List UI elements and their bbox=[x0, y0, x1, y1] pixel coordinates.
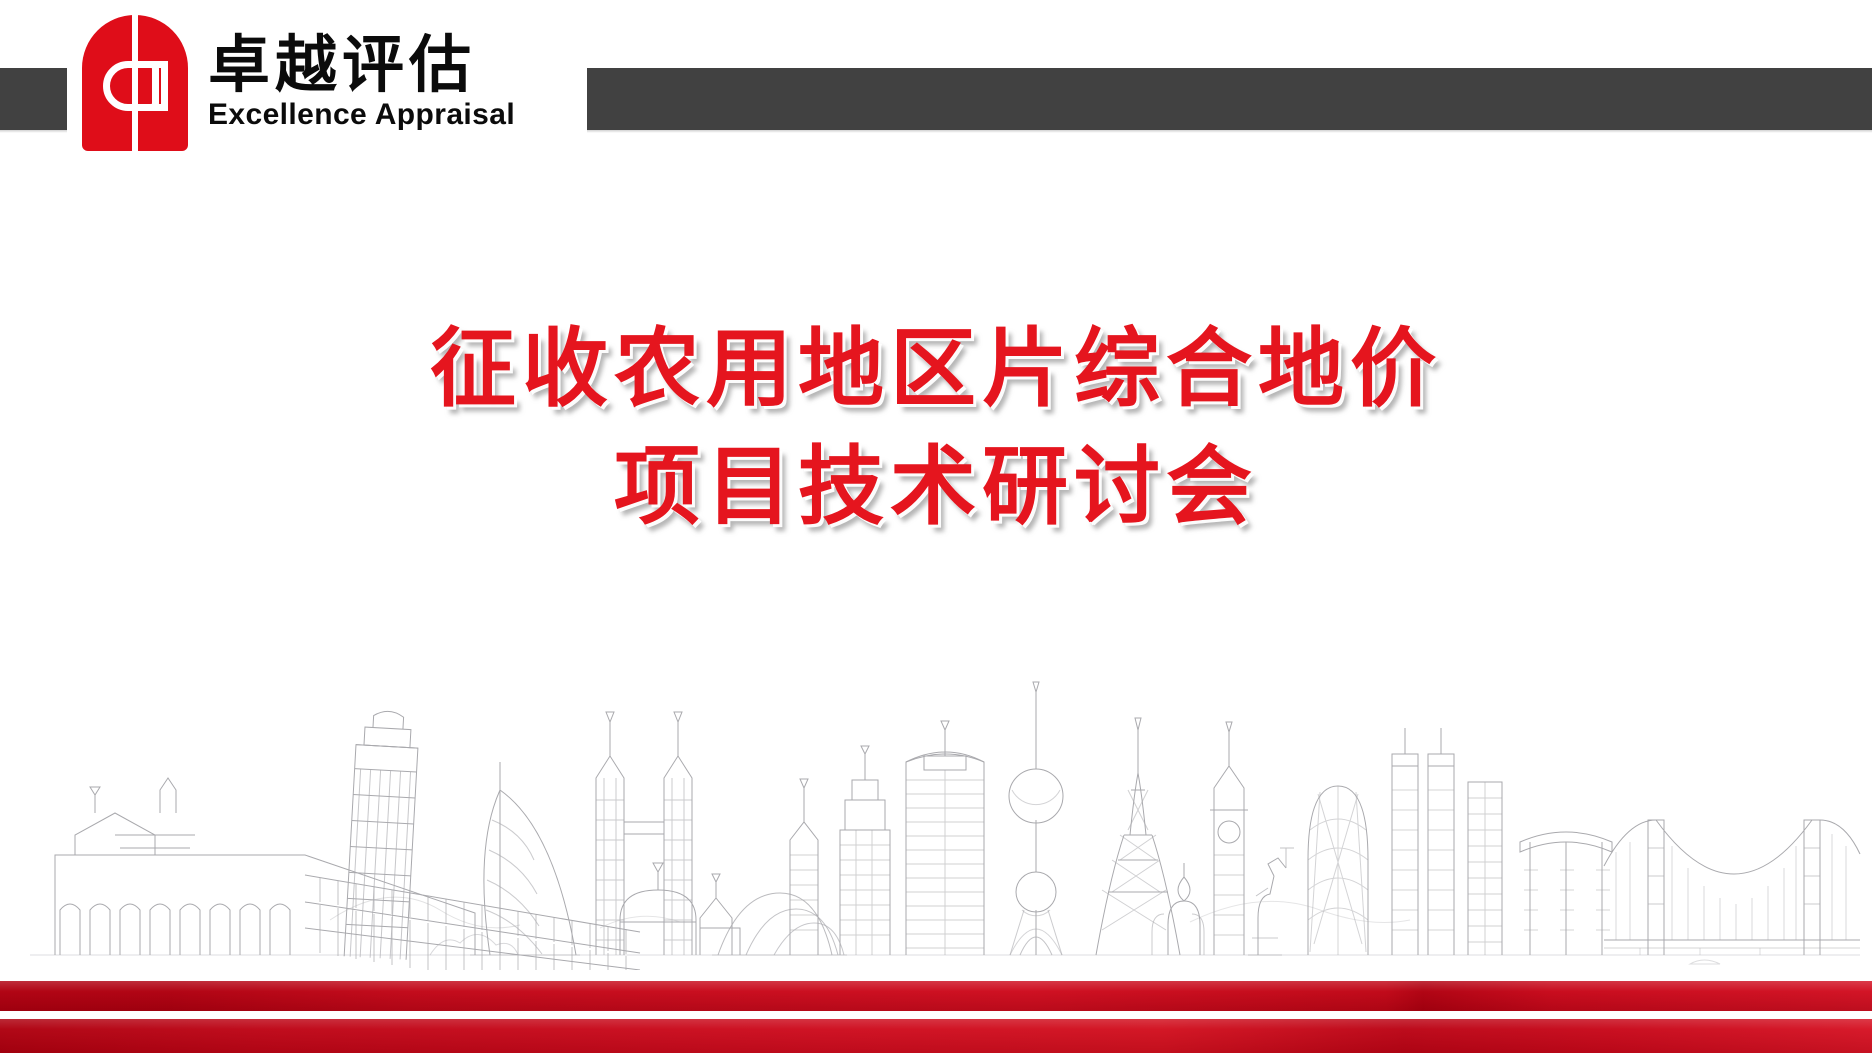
footer-bar-lower bbox=[0, 1019, 1872, 1053]
skyline-illustration bbox=[0, 670, 1872, 970]
logo-english-name: Excellence Appraisal bbox=[208, 98, 515, 133]
company-logo: 卓越评估 Excellence Appraisal bbox=[67, 8, 587, 158]
skyline-svg bbox=[0, 670, 1872, 970]
title-line-1: 征收农用地区片综合地价 bbox=[0, 310, 1872, 428]
footer-bar-upper bbox=[0, 981, 1872, 1011]
logo-shield-icon bbox=[82, 15, 188, 151]
title-slide: 卓越评估 Excellence Appraisal 征收农用地区片综合地价 项目… bbox=[0, 0, 1872, 1053]
slide-title: 征收农用地区片综合地价 项目技术研讨会 bbox=[0, 310, 1872, 546]
title-line-2: 项目技术研讨会 bbox=[0, 428, 1872, 546]
logo-chinese-name: 卓越评估 bbox=[208, 33, 515, 96]
logo-wordmark: 卓越评估 Excellence Appraisal bbox=[208, 33, 515, 133]
logo-tab-shape bbox=[138, 61, 168, 111]
logo-divider-shape bbox=[132, 15, 138, 151]
